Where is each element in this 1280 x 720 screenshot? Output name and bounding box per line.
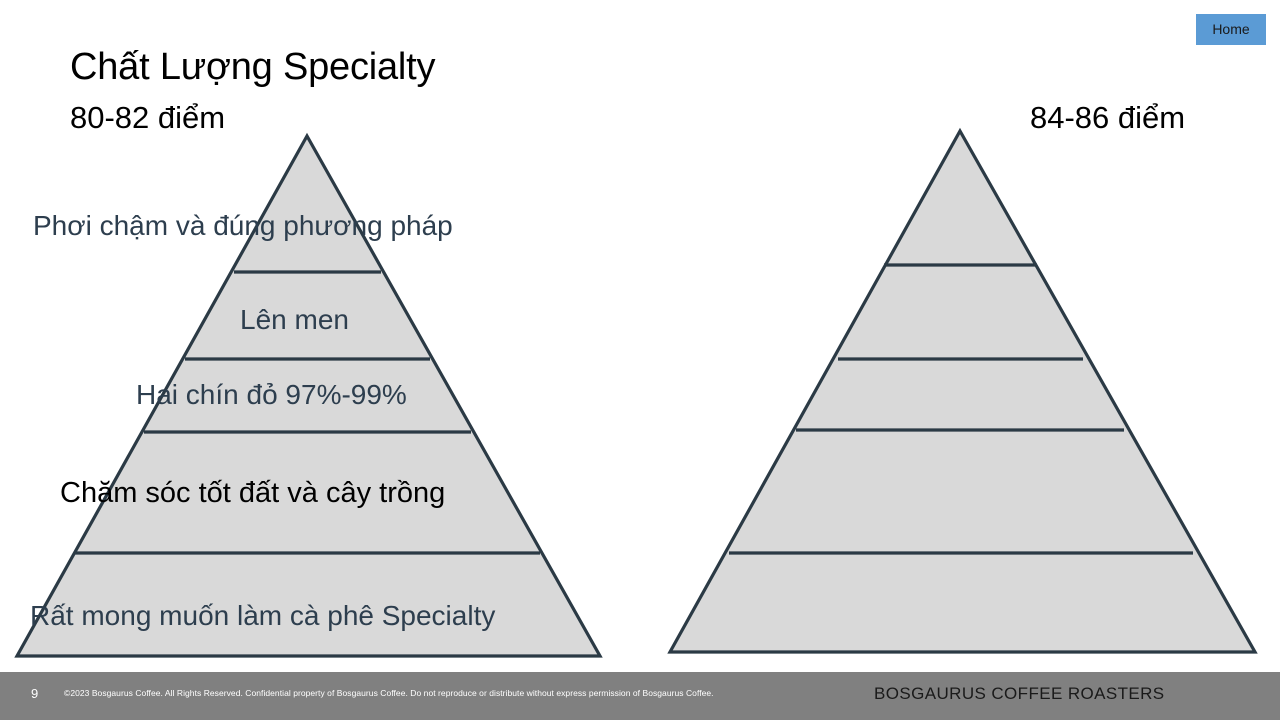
copyright-notice: ©2023 Bosgaurus Coffee. All Rights Reser… — [64, 688, 714, 698]
pyramid-right-outline — [670, 131, 1255, 652]
pyramid-left-outline — [17, 136, 600, 656]
brand-name: BOSGAURUS COFFEE ROASTERS — [874, 684, 1165, 704]
pyramid-diagram-left: Phơi chậm và đúng phương pháp Lên men Ha… — [0, 0, 640, 700]
page-number: 9 — [31, 686, 38, 701]
pyramid-diagram-right: Phơi chậm và đúng phương pháp Lên men ki… — [640, 0, 1280, 700]
slide-canvas: Home Chất Lượng Specialty 80-82 điểm 84-… — [0, 0, 1280, 720]
